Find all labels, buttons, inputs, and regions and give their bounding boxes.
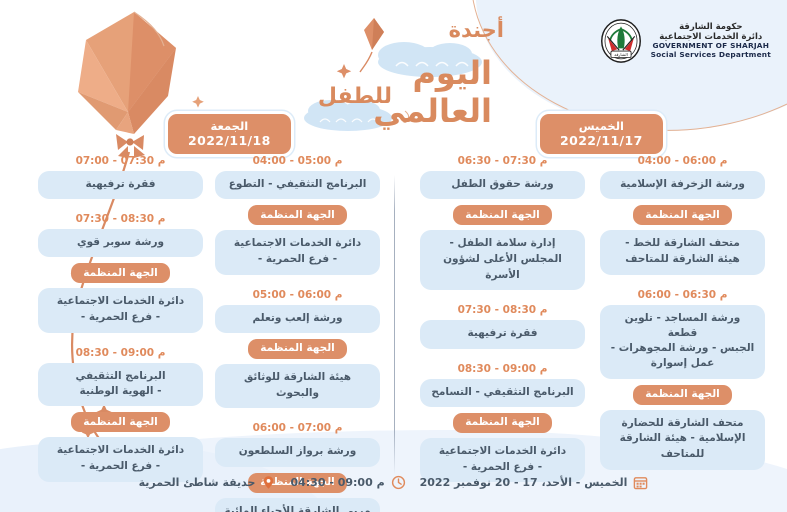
organizer-badge: الجهة المنظمة — [633, 205, 732, 225]
schedule-column-1: 07:00 - 07:30 مفقرة ترفيهية07:30 - 08:30… — [38, 155, 203, 496]
clock-icon — [391, 475, 406, 490]
schedule-column-3: 06:30 - 07:30 مورشة حقوق الطفلالجهة المن… — [420, 155, 585, 496]
organizer-name: متحف الشارقة للحضارةالإسلامية - هيئة الش… — [600, 410, 765, 470]
footer-time: 04:30 - 09:00 م — [290, 475, 405, 490]
footer-location-text: حديقة شاطئ الحمرية — [139, 476, 256, 489]
organizer-badge: الجهة المنظمة — [71, 412, 170, 432]
logo-english-line2: Social Services Department — [651, 51, 771, 60]
schedule-event: 08:30 - 09:00 مالبرنامج التثقيفي - التسا… — [420, 363, 585, 483]
footer-info: الخميس - الأحد، 17 - 20 نوفمبر 2022 04:3… — [0, 475, 787, 490]
event-title: البرنامج التثقيفي - التسامح — [420, 379, 585, 407]
event-title: فقرة ترفيهية — [420, 320, 585, 348]
footer-time-text: 04:30 - 09:00 م — [290, 476, 384, 489]
organizer-badge: الجهة المنظمة — [453, 205, 552, 225]
logo-arabic-line1: حكومة الشارقة — [651, 22, 771, 32]
event-time: 07:30 - 08:30 م — [38, 213, 203, 225]
government-logo: حكومة الشارقة دائرة الخدمات الاجتماعية G… — [599, 18, 771, 64]
organizer-name: دائرة الخدمات الاجتماعية- فرع الحمرية - — [38, 288, 203, 333]
event-time: 06:00 - 07:00 م — [215, 422, 380, 434]
page-title: أجندة اليوم العالمي للطفل — [300, 6, 510, 126]
day-date: 2022/11/18 — [188, 133, 271, 148]
day-date: 2022/11/17 — [560, 133, 643, 148]
title-word-agenda: أجندة — [449, 18, 504, 42]
schedule-event: 06:00 - 06:30 مورشة المساجد - تلوين قطعة… — [600, 289, 765, 470]
day-header-thursday: الخميس 2022/11/17 — [540, 114, 663, 154]
schedule-event: 05:00 - 06:00 مورشة إلعب وتعلمالجهة المن… — [215, 289, 380, 409]
schedule-event: 07:00 - 07:30 مفقرة ترفيهية — [38, 155, 203, 199]
map-pin-icon — [261, 475, 276, 490]
organizer-badge: الجهة المنظمة — [633, 385, 732, 405]
day-header-friday: الجمعة 2022/11/18 — [168, 114, 291, 154]
organizer-name: مربى الشارقة للأحياء المائية- هيئة الشار… — [215, 498, 380, 512]
event-title: ورشة الزخرفة الإسلامية — [600, 171, 765, 199]
schedule-event: 06:00 - 07:00 مورشة برواز السلطعونالجهة … — [215, 422, 380, 512]
schedule-event: 06:30 - 07:30 مورشة حقوق الطفلالجهة المن… — [420, 155, 585, 290]
event-title: البرنامج التثقيفي- الهوية الوطنية — [38, 363, 203, 406]
organizer-name: متحف الشارقة للخط -هيئة الشارقة للمتاحف — [600, 230, 765, 275]
day-name: الجمعة — [188, 119, 271, 133]
event-time: 05:00 - 06:00 م — [215, 289, 380, 301]
schedule-event: 07:30 - 08:30 مورشة سوبر قويالجهة المنظم… — [38, 213, 203, 333]
footer-date: الخميس - الأحد، 17 - 20 نوفمبر 2022 — [420, 475, 649, 490]
organizer-badge: الجهة المنظمة — [453, 413, 552, 433]
event-time: 06:30 - 07:30 م — [420, 155, 585, 167]
calendar-icon — [633, 475, 648, 490]
schedule-event: 08:30 - 09:00 مالبرنامج التثقيفي- الهوية… — [38, 347, 203, 482]
event-time: 08:30 - 09:00 م — [38, 347, 203, 359]
event-time: 04:00 - 06:00 م — [600, 155, 765, 167]
organizer-name: هيئة الشارقة للوثائق والبحوث — [215, 364, 380, 409]
event-time: 04:00 - 05:00 م — [215, 155, 380, 167]
event-time: 08:30 - 09:00 م — [420, 363, 585, 375]
day-name: الخميس — [560, 119, 643, 133]
event-title: ورشة إلعب وتعلم — [215, 305, 380, 333]
schedule-columns: 07:00 - 07:30 مفقرة ترفيهية07:30 - 08:30… — [0, 155, 787, 455]
organizer-name: دائرة الخدمات الاجتماعية- فرع الحمرية - — [215, 230, 380, 275]
organizer-badge: الجهة المنظمة — [71, 263, 170, 283]
schedule-event: 04:00 - 05:00 مالبرنامج التثقيفي - التطو… — [215, 155, 380, 275]
event-title: البرنامج التثقيفي - التطوع — [215, 171, 380, 199]
logo-text: حكومة الشارقة دائرة الخدمات الاجتماعية G… — [651, 22, 771, 60]
footer-date-text: الخميس - الأحد، 17 - 20 نوفمبر 2022 — [420, 476, 628, 489]
organizer-badge: الجهة المنظمة — [248, 205, 347, 225]
event-time: 07:30 - 08:30 م — [420, 304, 585, 316]
schedule-column-4: 04:00 - 06:00 مورشة الزخرفة الإسلاميةالج… — [600, 155, 765, 484]
event-title: ورشة المساجد - تلوين قطعةالجبس - ورشة ال… — [600, 305, 765, 379]
sparkle-star — [188, 92, 210, 114]
organizer-badge: الجهة المنظمة — [248, 339, 347, 359]
organizer-name: إدارة سلامة الطفل -المجلس الأعلى لشؤون ا… — [420, 230, 585, 290]
event-title: ورشة حقوق الطفل — [420, 171, 585, 199]
schedule-column-2: 04:00 - 05:00 مالبرنامج التثقيفي - التطو… — [215, 155, 380, 512]
event-title: ورشة سوبر قوي — [38, 229, 203, 257]
sharjah-emblem: الشارقة — [599, 18, 643, 64]
event-time: 06:00 - 06:30 م — [600, 289, 765, 301]
schedule-event: 07:30 - 08:30 مفقرة ترفيهية — [420, 304, 585, 348]
event-title: ورشة برواز السلطعون — [215, 438, 380, 466]
svg-text:الشارقة: الشارقة — [614, 52, 627, 57]
title-word-child: للطفل — [318, 84, 392, 109]
event-time: 07:00 - 07:30 م — [38, 155, 203, 167]
schedule-event: 04:00 - 06:00 مورشة الزخرفة الإسلاميةالج… — [600, 155, 765, 275]
event-title: فقرة ترفيهية — [38, 171, 203, 199]
footer-location: حديقة شاطئ الحمرية — [139, 475, 277, 490]
